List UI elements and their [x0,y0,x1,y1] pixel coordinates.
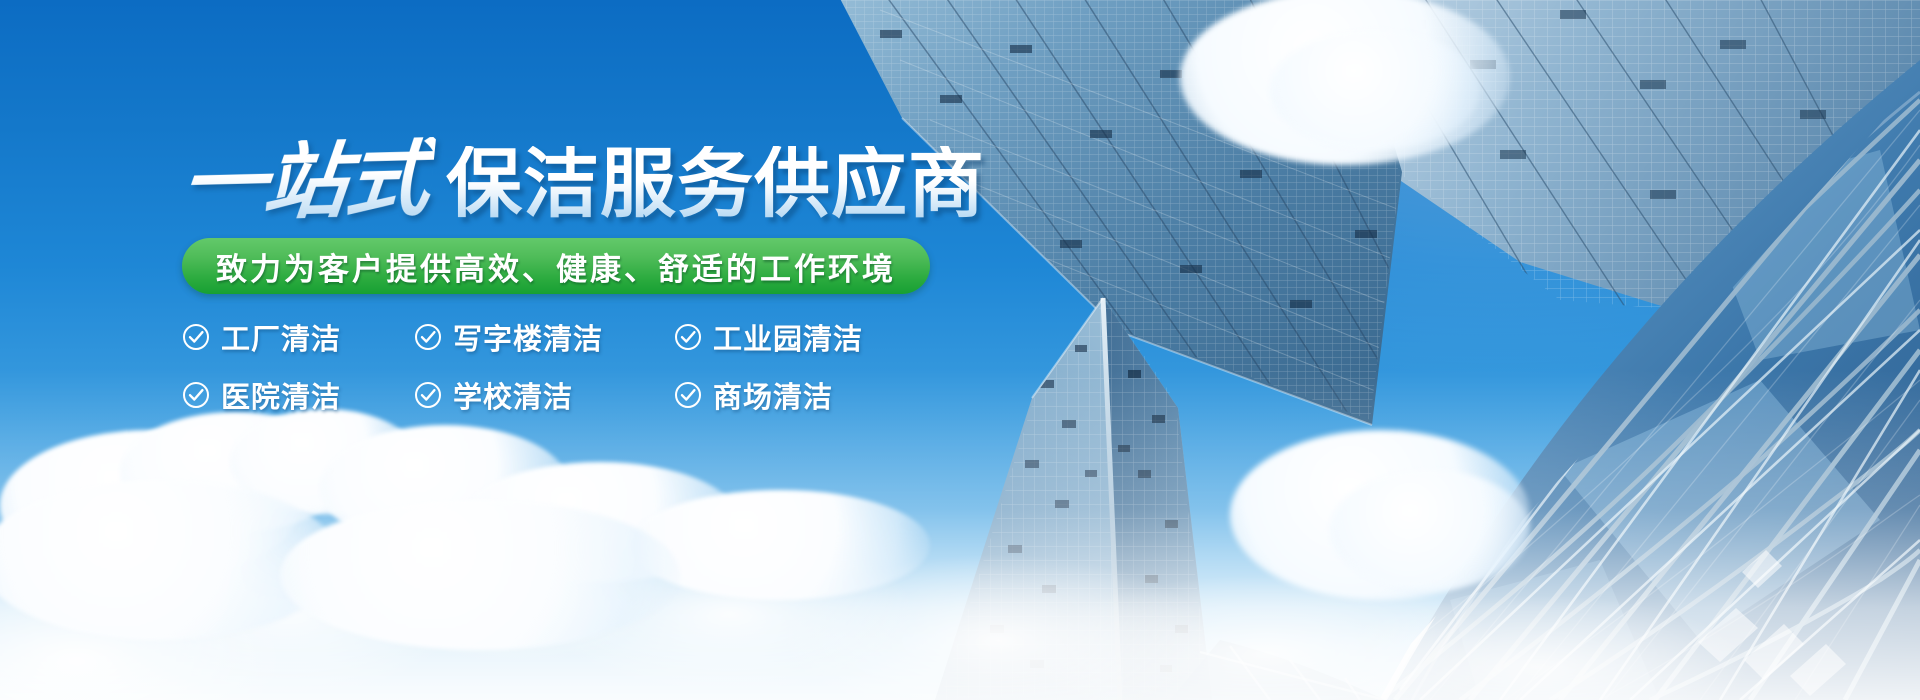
cloud-band-bottom [0,370,1920,700]
feature-item-factory-cleaning: 工厂清洁 [182,316,414,358]
tower-center [920,280,1230,700]
check-circle-icon [674,381,702,409]
cloud-top-right [1180,0,1510,165]
feature-label: 医院清洁 [221,374,341,416]
feature-item-office-building-cleaning: 写字楼清洁 [414,316,674,358]
check-circle-icon [674,323,702,351]
feature-label: 写字楼清洁 [453,316,603,358]
promo-banner: 一站式 保洁服务供应商 致力为客户提供高效、健康、舒适的工作环境 工厂清洁 [0,0,1920,700]
feature-label: 工厂清洁 [221,316,341,358]
check-circle-icon [414,323,442,351]
glass-wing-lower [1170,640,1385,700]
glass-dome-right [1300,60,1920,700]
subtitle-pill: 致力为客户提供高效、健康、舒适的工作环境 [182,238,930,294]
cloud-puffs [0,400,980,700]
check-circle-icon [414,381,442,409]
tower-top-right [800,0,1920,460]
headline-brush-text: 一站式 [178,137,437,225]
feature-item-mall-cleaning: 商场清洁 [674,374,942,416]
feature-list: 工厂清洁 写字楼清洁 工业园清洁 [182,316,942,416]
headline: 一站式 保洁服务供应商 [182,118,962,222]
cloud-mid-right-small [1330,470,1530,590]
feature-item-industrial-park-cleaning: 工业园清洁 [674,316,942,358]
check-circle-icon [182,323,210,351]
feature-label: 商场清洁 [713,374,833,416]
feature-item-school-cleaning: 学校清洁 [414,374,674,416]
subtitle-text: 致力为客户提供高效、健康、舒适的工作环境 [216,244,896,289]
cloud-top-right-small [1270,30,1480,150]
cloud-mid-right [1230,430,1530,600]
feature-label: 工业园清洁 [713,316,863,358]
check-circle-icon [182,381,210,409]
feature-item-hospital-cleaning: 医院清洁 [182,374,414,416]
banner-content: 一站式 保洁服务供应商 致力为客户提供高效、健康、舒适的工作环境 工厂清洁 [182,118,962,416]
feature-label: 学校清洁 [453,374,573,416]
headline-main-text: 保洁服务供应商 [446,146,985,222]
